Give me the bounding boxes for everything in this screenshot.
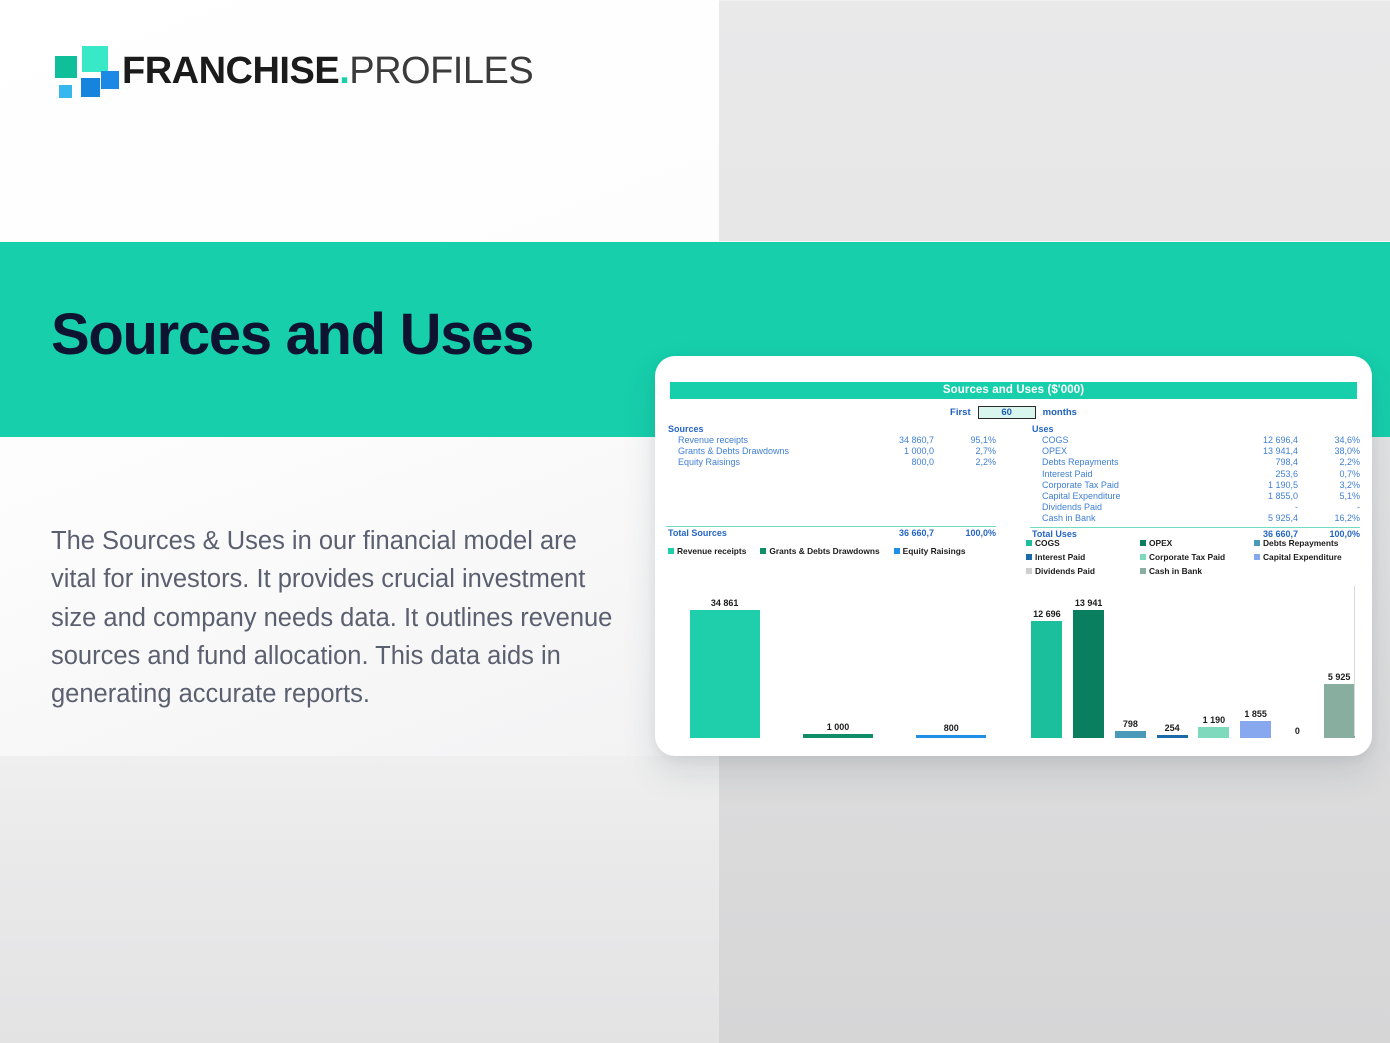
table-row: Dividends Paid - - [1030,502,1360,513]
row-percent: 5,1% [1298,491,1360,501]
total-label: Total Uses [1032,529,1216,539]
legend-item: Grants & Debts Drawdowns [760,546,879,556]
brand-logo: FRANCHISE.PROFILES [50,44,533,98]
legend-swatch-icon [1140,540,1146,546]
total-percent: 100,0% [934,528,996,538]
uses-table-header: Uses [1030,424,1360,434]
row-amount: 1 855,0 [1216,491,1298,501]
row-percent: 3,2% [1298,480,1360,490]
row-percent: 2,2% [934,457,996,467]
logo-squares-icon [50,44,112,98]
brand-wordmark: FRANCHISE.PROFILES [122,52,533,90]
row-amount: 800,0 [852,457,934,467]
bar-value-label: 254 [1165,723,1180,733]
row-label: OPEX [1042,446,1216,456]
legend-item: Corporate Tax Paid [1140,552,1254,562]
row-amount: 34 860,7 [852,435,934,445]
bar [1324,684,1355,738]
sources-bar-chart: 34 8611 000800 [668,578,1008,738]
page-body-text: The Sources & Uses in our financial mode… [51,522,621,713]
table-row: Corporate Tax Paid 1 190,5 3,2% [1030,480,1360,491]
sources-table: Sources Revenue receipts 34 860,7 95,1% … [666,424,996,539]
row-amount: 5 925,4 [1216,513,1298,523]
row-label: Capital Expenditure [1042,491,1216,501]
row-label: Revenue receipts [678,435,852,445]
bar [1240,721,1271,738]
bar [1073,610,1104,738]
legend-label: Equity Raisings [903,546,966,556]
legend-item: Equity Raisings [894,546,966,556]
row-percent: 2,7% [934,446,996,456]
table-row: Equity Raisings 800,0 2,2% [666,457,996,468]
legend-swatch-icon [1026,554,1032,560]
table-row: Cash in Bank 5 925,4 16,2% [1030,513,1360,524]
legend-swatch-icon [1026,568,1032,574]
row-amount: 798,4 [1216,457,1298,467]
bar-value-label: 13 941 [1075,598,1103,608]
legend-item: Cash in Bank [1140,566,1254,576]
uses-bar-chart: 12 69613 9417982541 1901 85505 925 [1026,578,1360,738]
row-percent: 0,7% [1298,469,1360,479]
page-title: Sources and Uses [51,305,533,366]
background-right-top-edge [719,0,1390,1]
bar-column: 800 [895,578,1008,738]
uses-table: Uses COGS 12 696,4 34,6% OPEX 13 941,4 3… [1030,424,1360,540]
logo-square-2 [82,46,108,72]
dashboard-card: Sources and Uses ($'000) First months So… [655,356,1372,756]
period-prefix-label: First [950,407,971,418]
legend-swatch-icon [1026,540,1032,546]
row-percent: 34,6% [1298,435,1360,445]
legend-label: Interest Paid [1035,552,1085,562]
legend-label: Corporate Tax Paid [1149,552,1225,562]
row-percent: 16,2% [1298,513,1360,523]
legend-item: Debts Repayments [1254,538,1368,548]
legend-label: Debts Repayments [1263,538,1338,548]
legend-item: COGS [1026,538,1140,548]
bar-column: 254 [1151,578,1193,738]
legend-item: Dividends Paid [1026,566,1140,576]
row-label: Corporate Tax Paid [1042,480,1216,490]
bar-value-label: 5 925 [1328,672,1351,682]
bar [803,734,873,738]
legend-label: Dividends Paid [1035,566,1095,576]
row-amount: 1 000,0 [852,446,934,456]
logo-square-3 [81,78,100,97]
brand-name-bold: FRANCHISE [122,50,339,92]
bar-column: 1 190 [1193,578,1235,738]
table-row: Capital Expenditure 1 855,0 5,1% [1030,491,1360,502]
bar-column: 13 941 [1068,578,1110,738]
row-label: COGS [1042,435,1216,445]
table-row: Interest Paid 253,6 0,7% [1030,469,1360,480]
legend-item: OPEX [1140,538,1254,548]
legend-swatch-icon [1140,568,1146,574]
bar-value-label: 798 [1123,719,1138,729]
row-percent: 2,2% [1298,457,1360,467]
logo-square-1 [55,56,77,78]
bar [916,735,986,738]
row-amount: 253,6 [1216,469,1298,479]
bar-value-label: 1 000 [827,722,850,732]
bar [1031,621,1062,738]
legend-label: Capital Expenditure [1263,552,1342,562]
table-row: OPEX 13 941,4 38,0% [1030,446,1360,457]
bar-value-label: 34 861 [711,598,739,608]
legend-label: Grants & Debts Drawdowns [769,546,879,556]
uses-bars: 12 69613 9417982541 1901 85505 925 [1026,578,1360,738]
total-amount: 36 660,7 [852,528,934,538]
bar-column: 12 696 [1026,578,1068,738]
row-amount: 1 190,5 [1216,480,1298,490]
legend-swatch-icon [1254,540,1260,546]
bar [1115,731,1146,738]
sources-table-header: Sources [666,424,996,434]
legend-swatch-icon [1140,554,1146,560]
months-input[interactable] [978,406,1036,419]
row-amount: 13 941,4 [1216,446,1298,456]
period-selector-row: First months [655,404,1372,420]
legend-label: Revenue receipts [677,546,746,556]
sources-chart-legend: Revenue receipts Grants & Debts Drawdown… [668,546,1008,556]
chart-right-edge-divider [1354,586,1355,736]
background-bottom-wash [0,756,719,1043]
sources-bars: 34 8611 000800 [668,578,1008,738]
total-label: Total Sources [668,528,852,538]
period-suffix-label: months [1043,407,1077,418]
row-label: Grants & Debts Drawdowns [678,446,852,456]
uses-chart-legend: COGS OPEX Debts Repayments Interest Paid… [1026,538,1366,576]
bar-value-label: 1 190 [1203,715,1226,725]
legend-label: Cash in Bank [1149,566,1202,576]
row-label: Interest Paid [1042,469,1216,479]
bar-column: 0 [1277,578,1319,738]
row-amount: - [1216,502,1298,512]
bar-value-label: 1 855 [1244,709,1267,719]
legend-label: OPEX [1149,538,1172,548]
legend-item: Revenue receipts [668,546,746,556]
row-amount: 12 696,4 [1216,435,1298,445]
total-percent: 100,0% [1298,529,1360,539]
brand-name-dot: . [339,50,349,92]
bar [1198,727,1229,738]
row-percent: 95,1% [934,435,996,445]
brand-name-light: PROFILES [349,50,533,92]
row-label: Debts Repayments [1042,457,1216,467]
legend-swatch-icon [1254,554,1260,560]
logo-square-5 [59,85,72,98]
row-percent: - [1298,502,1360,512]
sources-total-row: Total Sources 36 660,7 100,0% [666,526,996,539]
bar-value-label: 0 [1295,726,1300,736]
table-row: Debts Repayments 798,4 2,2% [1030,457,1360,468]
row-percent: 38,0% [1298,446,1360,456]
legend-swatch-icon [668,548,674,554]
row-label: Cash in Bank [1042,513,1216,523]
bar-column: 1 855 [1235,578,1277,738]
table-row: COGS 12 696,4 34,6% [1030,435,1360,446]
bar [1157,735,1188,738]
legend-swatch-icon [894,548,900,554]
legend-item: Capital Expenditure [1254,552,1368,562]
legend-item: Interest Paid [1026,552,1140,562]
row-label: Equity Raisings [678,457,852,467]
table-row: Grants & Debts Drawdowns 1 000,0 2,7% [666,446,996,457]
sheet-title-banner: Sources and Uses ($'000) [670,382,1357,399]
total-amount: 36 660,7 [1216,529,1298,539]
bar-value-label: 800 [944,723,959,733]
table-row: Revenue receipts 34 860,7 95,1% [666,435,996,446]
bar-column: 34 861 [668,578,781,738]
logo-square-4 [101,71,119,89]
sources-table-spacer [666,469,996,524]
bar-value-label: 12 696 [1033,609,1061,619]
bar-column: 1 000 [781,578,894,738]
bar [690,610,760,738]
bar-column: 798 [1110,578,1152,738]
row-label: Dividends Paid [1042,502,1216,512]
legend-label: COGS [1035,538,1060,548]
legend-swatch-icon [760,548,766,554]
